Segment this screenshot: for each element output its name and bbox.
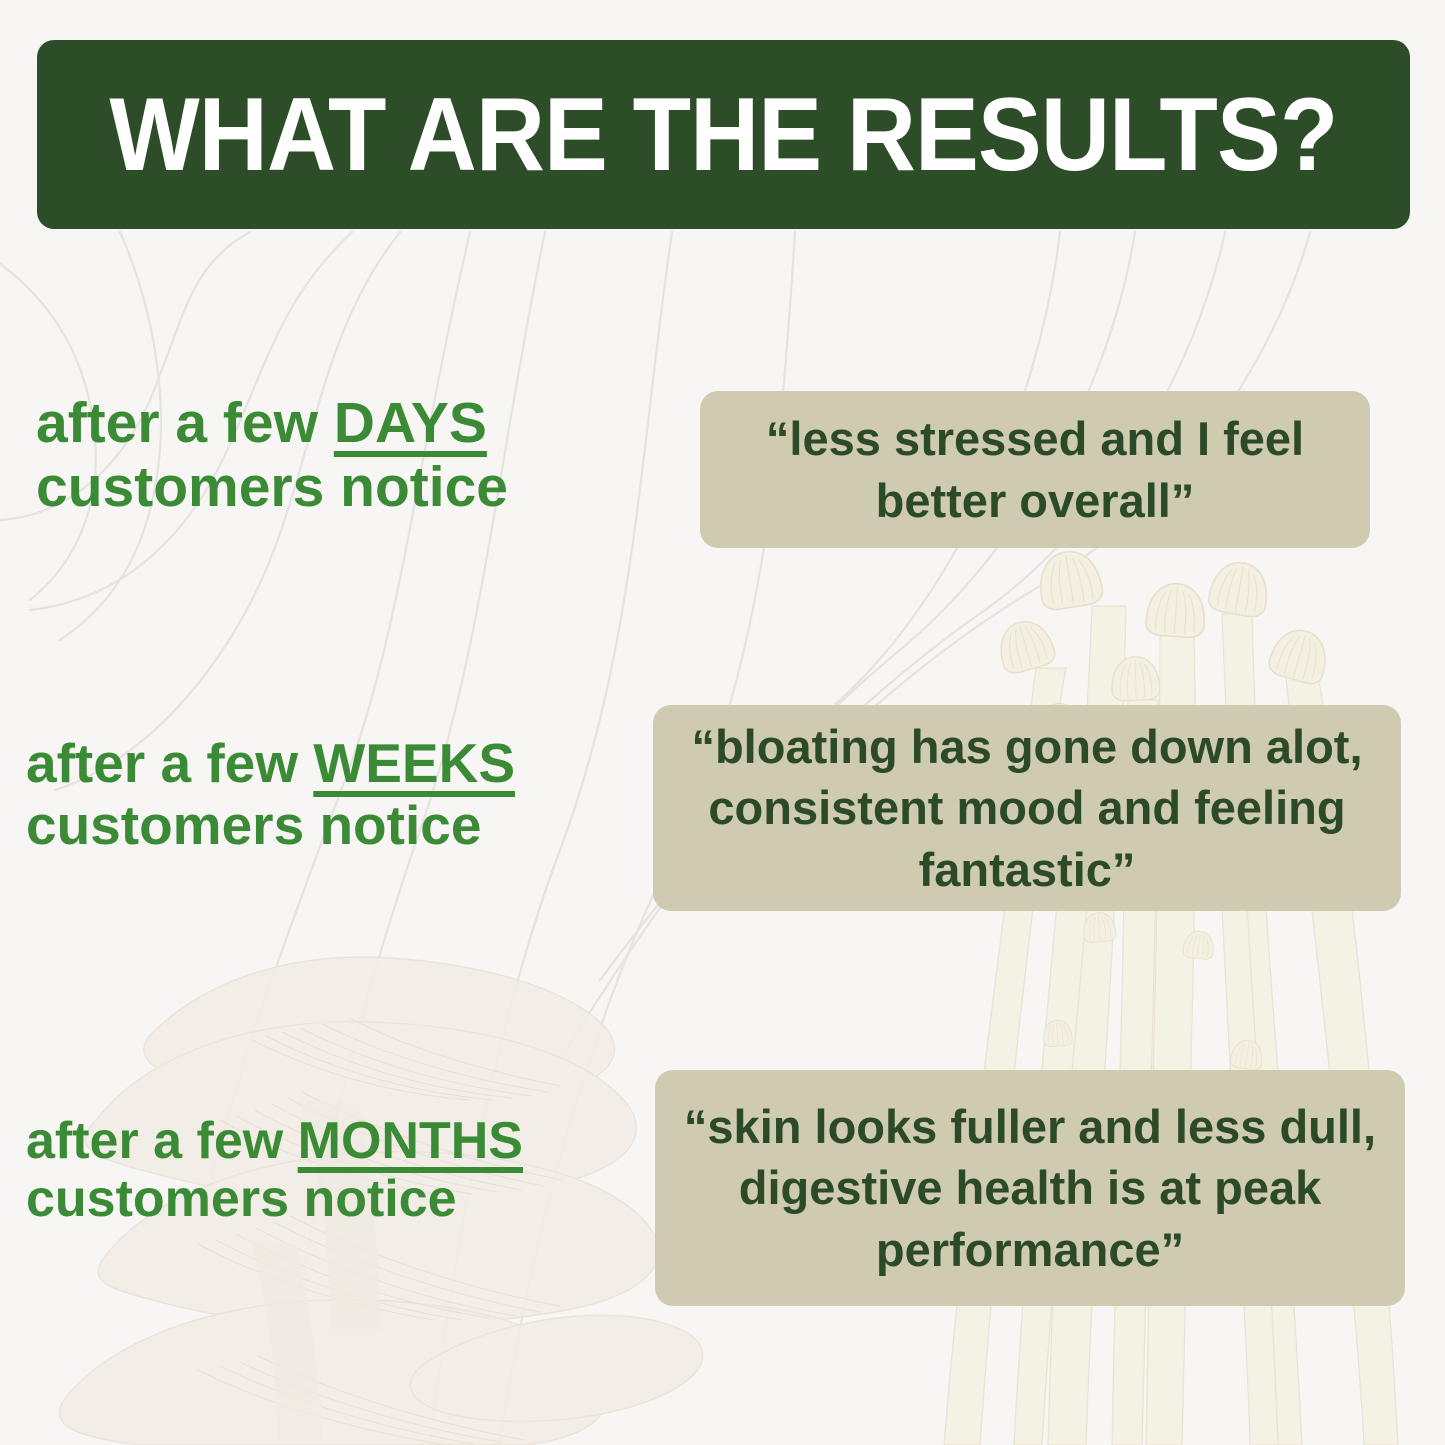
stage-label-days: after a few DAYS customers notice xyxy=(36,392,508,520)
stage-lead-days: after a few xyxy=(36,391,334,455)
stage-label-weeks: after a few WEEKS customers notice xyxy=(26,733,515,856)
quote-text-days: “less stressed and I feel better overall… xyxy=(700,408,1370,530)
quote-card-weeks: “bloating has gone down alot, consistent… xyxy=(653,705,1401,911)
stage-label-months: after a few MONTHS customers notice xyxy=(26,1112,523,1228)
quote-card-days: “less stressed and I feel better overall… xyxy=(700,391,1370,548)
quote-text-weeks: “bloating has gone down alot, consistent… xyxy=(653,716,1401,899)
stage-subline-days: customers notice xyxy=(36,456,508,520)
stage-period-days: DAYS xyxy=(334,391,487,455)
stage-subline-months: customers notice xyxy=(26,1170,523,1228)
quote-text-months: “skin looks fuller and less dull, digest… xyxy=(655,1096,1405,1279)
header-banner: WHAT ARE THE RESULTS? xyxy=(37,40,1410,229)
stage-subline-weeks: customers notice xyxy=(26,795,515,857)
stage-period-months: MONTHS xyxy=(298,1112,523,1170)
quote-card-months: “skin looks fuller and less dull, digest… xyxy=(655,1070,1405,1306)
page-title: WHAT ARE THE RESULTS? xyxy=(110,83,1338,187)
stage-lead-weeks: after a few xyxy=(26,732,313,794)
stage-lead-months: after a few xyxy=(26,1112,298,1170)
stage-period-weeks: WEEKS xyxy=(313,732,515,794)
